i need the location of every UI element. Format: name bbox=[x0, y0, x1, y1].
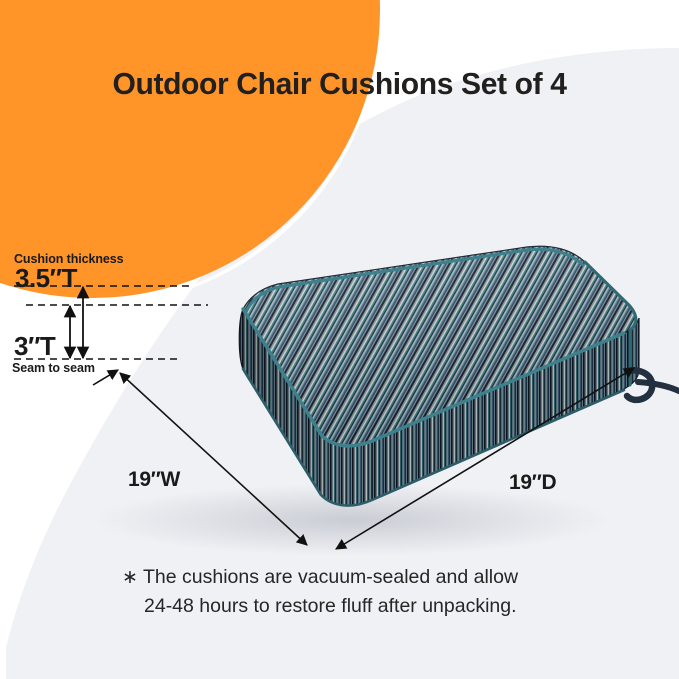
footnote-marker: ∗ bbox=[122, 567, 138, 588]
seam-thickness-value: 3″T bbox=[14, 331, 55, 362]
depth-dimension-label: 19″D bbox=[509, 471, 556, 495]
cushion-thickness-value: 3.5″T bbox=[15, 263, 77, 294]
footnote-line-1: The cushions are vacuum-sealed and allow bbox=[143, 566, 518, 588]
seam-to-seam-caption: Seam to seam bbox=[12, 361, 95, 375]
footnote: ∗ The cushions are vacuum-sealed and all… bbox=[122, 563, 642, 621]
footnote-line-2: 24-48 hours to restore fluff after unpac… bbox=[122, 592, 642, 621]
dimension-line-depth bbox=[336, 368, 634, 549]
dimension-line-width bbox=[120, 373, 307, 545]
pointer-seam-to-seam bbox=[93, 370, 118, 385]
width-dimension-label: 19″W bbox=[128, 468, 180, 492]
infographic-canvas: Outdoor Chair Cushions Set of 4 bbox=[0, 0, 679, 679]
page-title: Outdoor Chair Cushions Set of 4 bbox=[10, 66, 669, 102]
